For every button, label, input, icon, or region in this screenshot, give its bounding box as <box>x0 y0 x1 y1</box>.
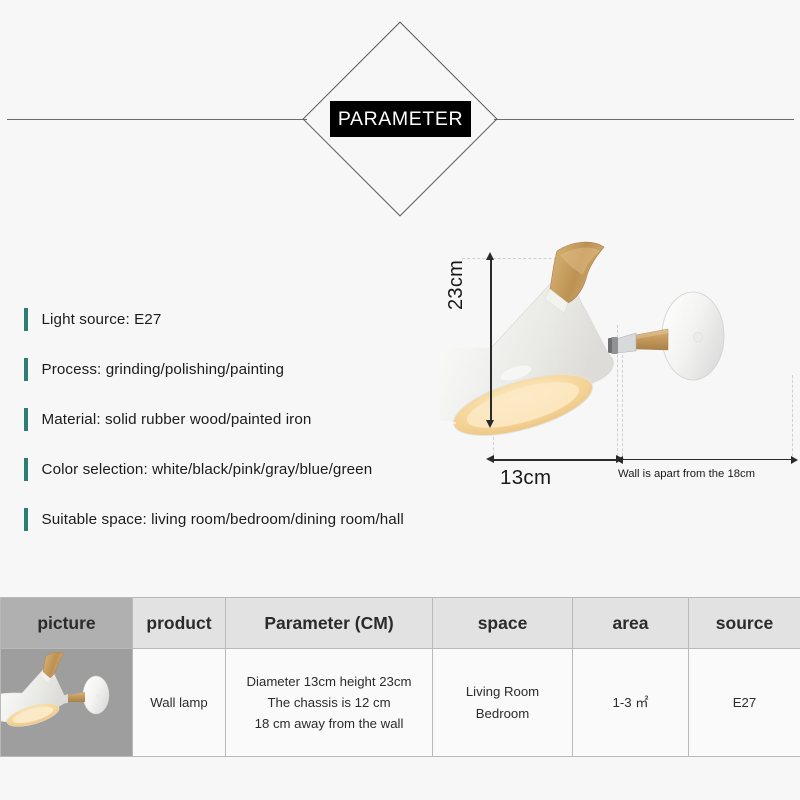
specification-list: Light source: E27 Process: grinding/poli… <box>24 303 454 553</box>
spec-item-material: Material: solid rubber wood/painted iron <box>24 403 454 436</box>
table-header-row: picture product Parameter (CM) space are… <box>1 598 800 649</box>
spec-label: Light source: E27 <box>42 311 162 328</box>
page-header: PARAMETER <box>0 0 800 225</box>
parameter-banner: PARAMETER <box>330 101 471 137</box>
banner-title: PARAMETER <box>338 108 463 131</box>
width-dimension-arrow <box>493 459 617 461</box>
spec-item-process: Process: grinding/polishing/painting <box>24 353 454 386</box>
table-header-source: source <box>689 598 800 649</box>
table-cell-source: E27 <box>689 649 800 757</box>
wall-lamp-thumbnail <box>1 649 133 750</box>
spec-label: Process: grinding/polishing/painting <box>42 361 285 378</box>
height-dimension-arrow <box>490 259 492 421</box>
spec-item-light-source: Light source: E27 <box>24 303 454 336</box>
width-dimension-label: 13cm <box>500 466 551 490</box>
table-header-area: area <box>573 598 689 649</box>
space-line: Living Room <box>434 681 571 702</box>
spec-item-suitable-space: Suitable space: living room/bedroom/dini… <box>24 503 454 536</box>
table-header-space: space <box>433 598 573 649</box>
wall-distance-arrow <box>622 459 792 460</box>
header-rule-right <box>494 119 794 120</box>
spec-label: Color selection: white/black/pink/gray/b… <box>42 461 373 478</box>
bullet-bar-icon <box>24 458 28 481</box>
height-dimension-label: 23cm <box>445 260 468 310</box>
wall-distance-label: Wall is apart from the 18cm <box>618 468 755 480</box>
parameter-line: The chassis is 12 cm <box>227 692 431 713</box>
table-cell-parameter: Diameter 13cm height 23cm The chassis is… <box>226 649 433 757</box>
parameter-line: 18 cm away from the wall <box>227 713 431 734</box>
table-header-parameter: Parameter (CM) <box>226 598 433 649</box>
bullet-bar-icon <box>24 308 28 331</box>
table-cell-product: Wall lamp <box>133 649 226 757</box>
spec-label: Suitable space: living room/bedroom/dini… <box>42 511 404 528</box>
spec-item-color-selection: Color selection: white/black/pink/gray/b… <box>24 453 454 486</box>
space-line: Bedroom <box>434 703 571 724</box>
parameter-line: Diameter 13cm height 23cm <box>227 671 431 692</box>
header-rule-left <box>7 119 307 120</box>
table-row: Wall lamp Diameter 13cm height 23cm The … <box>1 649 800 757</box>
bullet-bar-icon <box>24 508 28 531</box>
table-header-product: product <box>133 598 226 649</box>
bullet-bar-icon <box>24 358 28 381</box>
product-photo-with-dimensions: 23cm 13cm Wall is apart from the 18cm <box>440 225 800 515</box>
table-cell-area: 1-3 ㎡ <box>573 649 689 757</box>
table-header-picture: picture <box>1 598 133 649</box>
specification-table: picture product Parameter (CM) space are… <box>0 597 800 757</box>
bullet-bar-icon <box>24 408 28 431</box>
spec-label: Material: solid rubber wood/painted iron <box>42 411 312 428</box>
table-cell-space: Living Room Bedroom <box>433 649 573 757</box>
table-cell-picture <box>1 649 133 757</box>
